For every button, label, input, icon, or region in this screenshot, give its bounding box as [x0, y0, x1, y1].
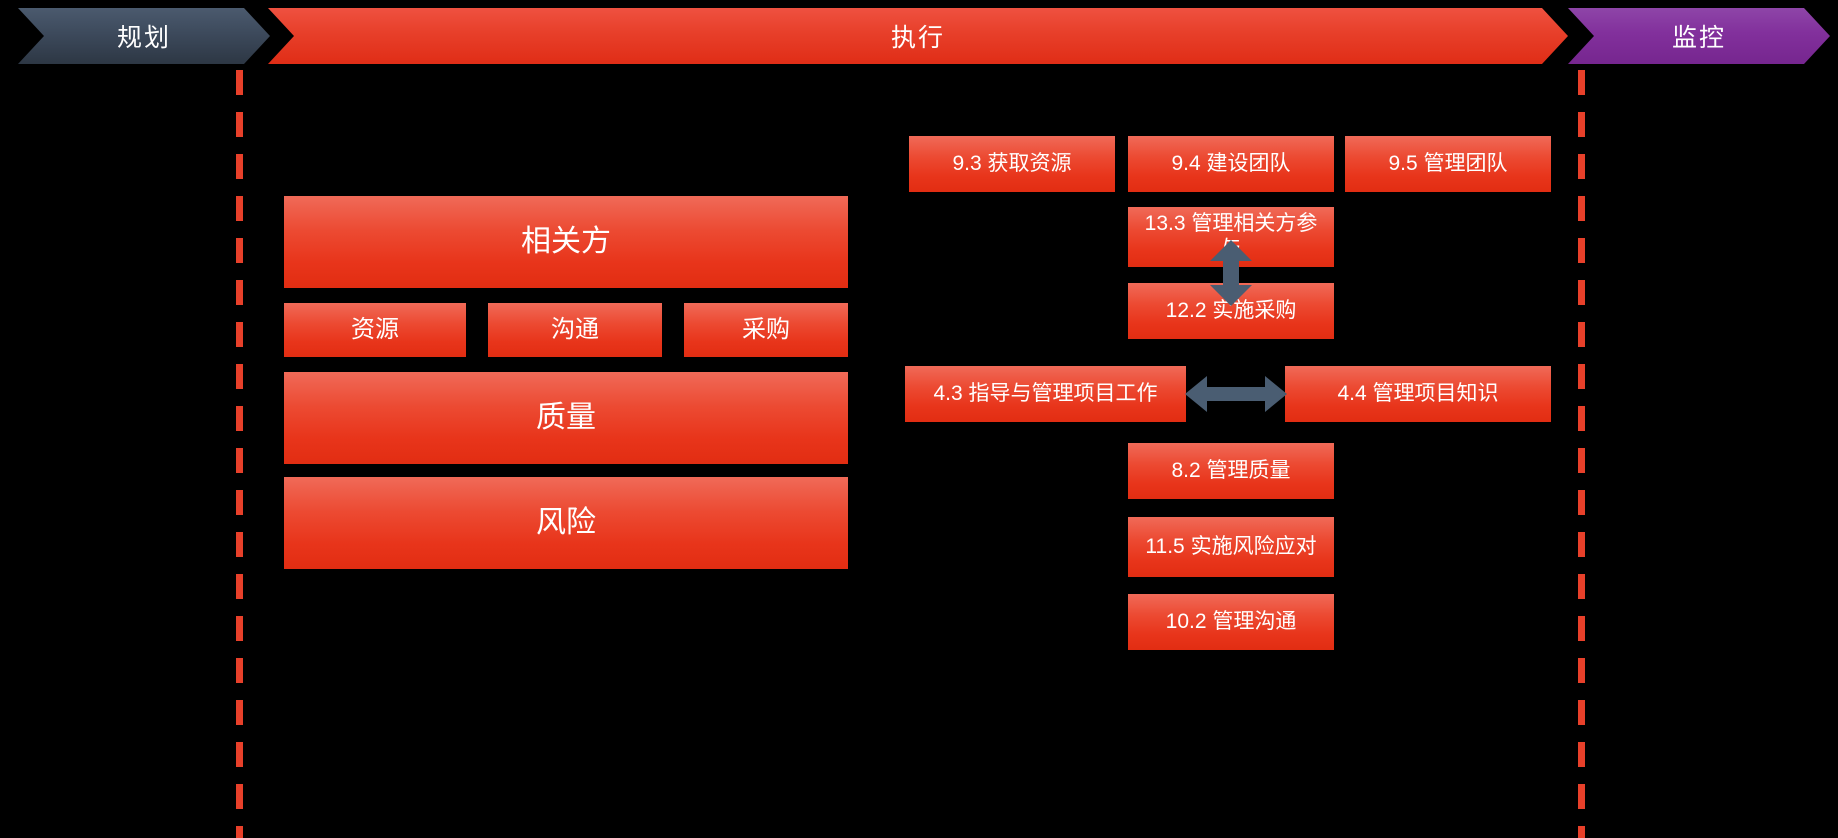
knowledge-area-quality[interactable]: 质量 [284, 372, 848, 464]
process-box-4-3[interactable]: 4.3 指导与管理项目工作 [905, 366, 1186, 422]
knowledge-area-label: 资源 [351, 316, 399, 344]
knowledge-area-procurement[interactable]: 采购 [684, 303, 848, 357]
process-label: 11.5 实施风险应对 [1145, 535, 1316, 560]
knowledge-area-communication[interactable]: 沟通 [488, 303, 662, 357]
knowledge-area-label: 沟通 [551, 316, 599, 344]
process-box-11-5[interactable]: 11.5 实施风险应对 [1128, 517, 1334, 577]
process-label: 9.4 建设团队 [1171, 152, 1290, 177]
divider-planning-executing [236, 70, 243, 838]
process-label: 8.2 管理质量 [1171, 459, 1290, 484]
phase-label-planning: 规划 [117, 18, 171, 54]
phase-chevron-executing[interactable]: 执行 [268, 8, 1568, 64]
knowledge-area-label: 质量 [536, 400, 596, 435]
knowledge-area-label: 风险 [536, 505, 596, 540]
process-box-9-3[interactable]: 9.3 获取资源 [909, 136, 1115, 192]
process-box-4-4[interactable]: 4.4 管理项目知识 [1285, 366, 1551, 422]
knowledge-area-label: 采购 [742, 316, 790, 344]
knowledge-area-label: 相关方 [521, 224, 611, 259]
process-label: 10.2 管理沟通 [1166, 610, 1297, 635]
double-arrow-vertical-icon [1210, 240, 1252, 306]
process-box-9-4[interactable]: 9.4 建设团队 [1128, 136, 1334, 192]
process-box-10-2[interactable]: 10.2 管理沟通 [1128, 594, 1334, 650]
knowledge-area-risk[interactable]: 风险 [284, 477, 848, 569]
phase-chevron-monitoring[interactable]: 监控 [1568, 8, 1830, 64]
process-label: 9.5 管理团队 [1388, 152, 1507, 177]
divider-executing-monitoring [1578, 70, 1585, 838]
phase-band: 规划 执行 监控 [0, 0, 1838, 70]
knowledge-area-resource[interactable]: 资源 [284, 303, 466, 357]
phase-label-executing: 执行 [891, 18, 945, 54]
knowledge-area-stakeholder[interactable]: 相关方 [284, 196, 848, 288]
process-label: 4.4 管理项目知识 [1337, 382, 1498, 407]
phase-label-monitoring: 监控 [1672, 18, 1726, 54]
process-box-9-5[interactable]: 9.5 管理团队 [1345, 136, 1551, 192]
process-label: 9.3 获取资源 [952, 152, 1071, 177]
phase-chevron-planning[interactable]: 规划 [18, 8, 270, 64]
process-box-8-2[interactable]: 8.2 管理质量 [1128, 443, 1334, 499]
double-arrow-horizontal-icon [1185, 376, 1287, 412]
process-label: 4.3 指导与管理项目工作 [933, 382, 1157, 407]
